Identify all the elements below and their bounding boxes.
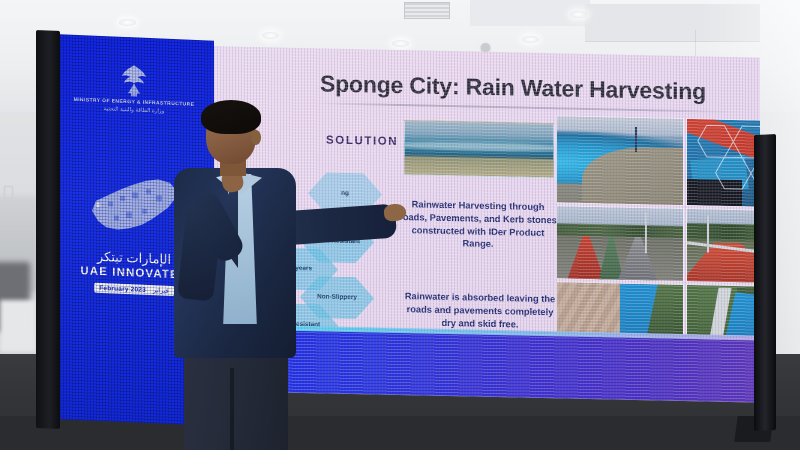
presenter-leg-split [230, 368, 234, 450]
background-table [0, 300, 36, 352]
hexagon-overlay-icon [687, 119, 760, 208]
recessed-downlight-icon [570, 11, 587, 18]
presenter [168, 100, 398, 450]
campaign-date-en: February 2023 [99, 284, 146, 293]
solution-aerial-photo [404, 120, 554, 178]
presenter-ear [251, 130, 261, 145]
photo-wave [404, 141, 554, 152]
led-video-wall: MINISTRY OF ENERGY & INFRASTRUCTURE وزار… [36, 18, 776, 418]
uae-falcon-emblem-icon [119, 63, 149, 98]
conference-room-scene: MINISTRY OF ENERGY & INFRASTRUCTURE وزار… [0, 0, 800, 450]
slide-photo-curved-cyan-waterfront-path [556, 115, 684, 206]
slide-body-text-2: Rainwater is absorbed leaving the roads … [400, 290, 560, 332]
presenter-hair [201, 100, 261, 134]
led-wall-right-frame [754, 134, 776, 431]
campaign-date-ar: فبراير [153, 286, 169, 295]
slide-photo-red-blue-pavers-hexagon-overlay [686, 118, 760, 209]
slide-body-text-1: Rainwater Harvesting through roads, Pave… [398, 198, 558, 253]
campaign-date-badge: February 2023 فبراير [94, 283, 174, 296]
led-wall-left-frame [36, 30, 60, 429]
slide-photo-red-lane-roadside-pavement [686, 208, 760, 285]
photo-sand [405, 156, 553, 177]
ceiling-vent-icon [404, 2, 450, 19]
slide-photo-multi-colour-lane-road [556, 205, 684, 282]
presenter-legs [184, 348, 288, 450]
